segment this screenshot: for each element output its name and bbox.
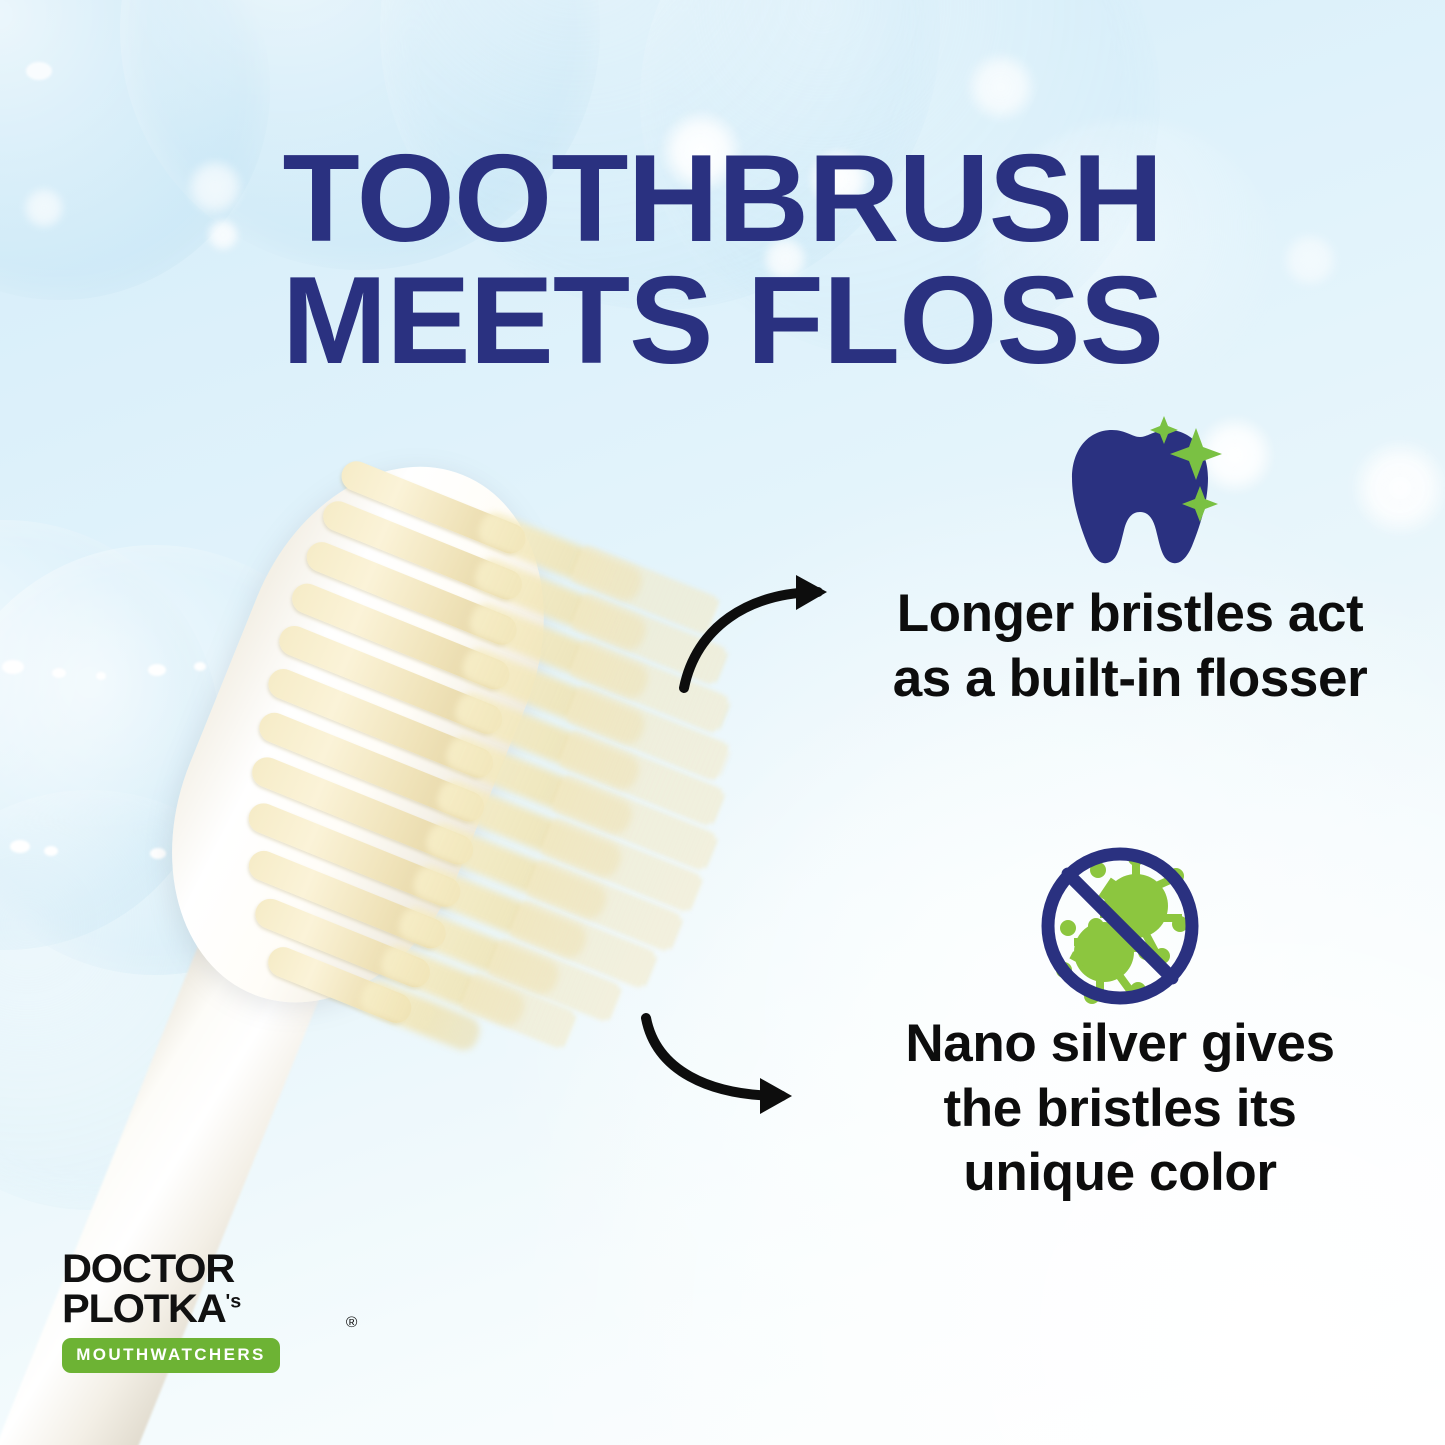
feature-1-text: Longer bristles act as a built-in flosse… <box>850 582 1410 711</box>
feature-2-line-3: unique color <box>830 1141 1410 1206</box>
bokeh-dot <box>966 52 1036 122</box>
logo-plotka-text: PLOTKA <box>62 1287 226 1331</box>
curved-arrow-down-right-icon <box>630 1008 830 1118</box>
bubble-highlight <box>2 660 24 674</box>
mouthwatchers-badge: MOUTHWATCHERS <box>62 1338 280 1373</box>
brand-logo: DOCTOR PLOTKA's® MOUTHWATCHERS <box>62 1250 332 1373</box>
mouthwatchers-label: MOUTHWATCHERS <box>76 1345 266 1364</box>
feature-2-line-2: the bristles its <box>830 1077 1410 1142</box>
tooth-sparkle-icon <box>1050 410 1250 580</box>
bubble-highlight <box>26 62 52 80</box>
feature-2-line-1: Nano silver gives <box>830 1012 1410 1077</box>
feature-2-text: Nano silver gives the bristles its uniqu… <box>830 1012 1410 1206</box>
feature-1-line-2: as a built-in flosser <box>850 647 1410 712</box>
registered-trademark-icon: ® <box>346 1316 358 1331</box>
headline-line-2: MEETS FLOSS <box>0 261 1445 383</box>
curved-arrow-up-right-icon <box>670 570 860 700</box>
page-title: TOOTHBRUSH MEETS FLOSS <box>0 139 1445 382</box>
logo-word-plotkas: PLOTKA's® <box>62 1290 343 1330</box>
feature-1-line-1: Longer bristles act <box>850 582 1410 647</box>
logo-word-doctor: DOCTOR <box>62 1250 343 1290</box>
bokeh-dot <box>1352 440 1445 536</box>
product-infographic: TOOTHBRUSH MEETS FLOSS <box>0 0 1445 1445</box>
headline-line-1: TOOTHBRUSH <box>0 139 1445 261</box>
logo-possessive: 's <box>226 1291 242 1312</box>
no-germs-icon <box>1020 840 1220 1010</box>
bubble-highlight <box>52 668 66 678</box>
